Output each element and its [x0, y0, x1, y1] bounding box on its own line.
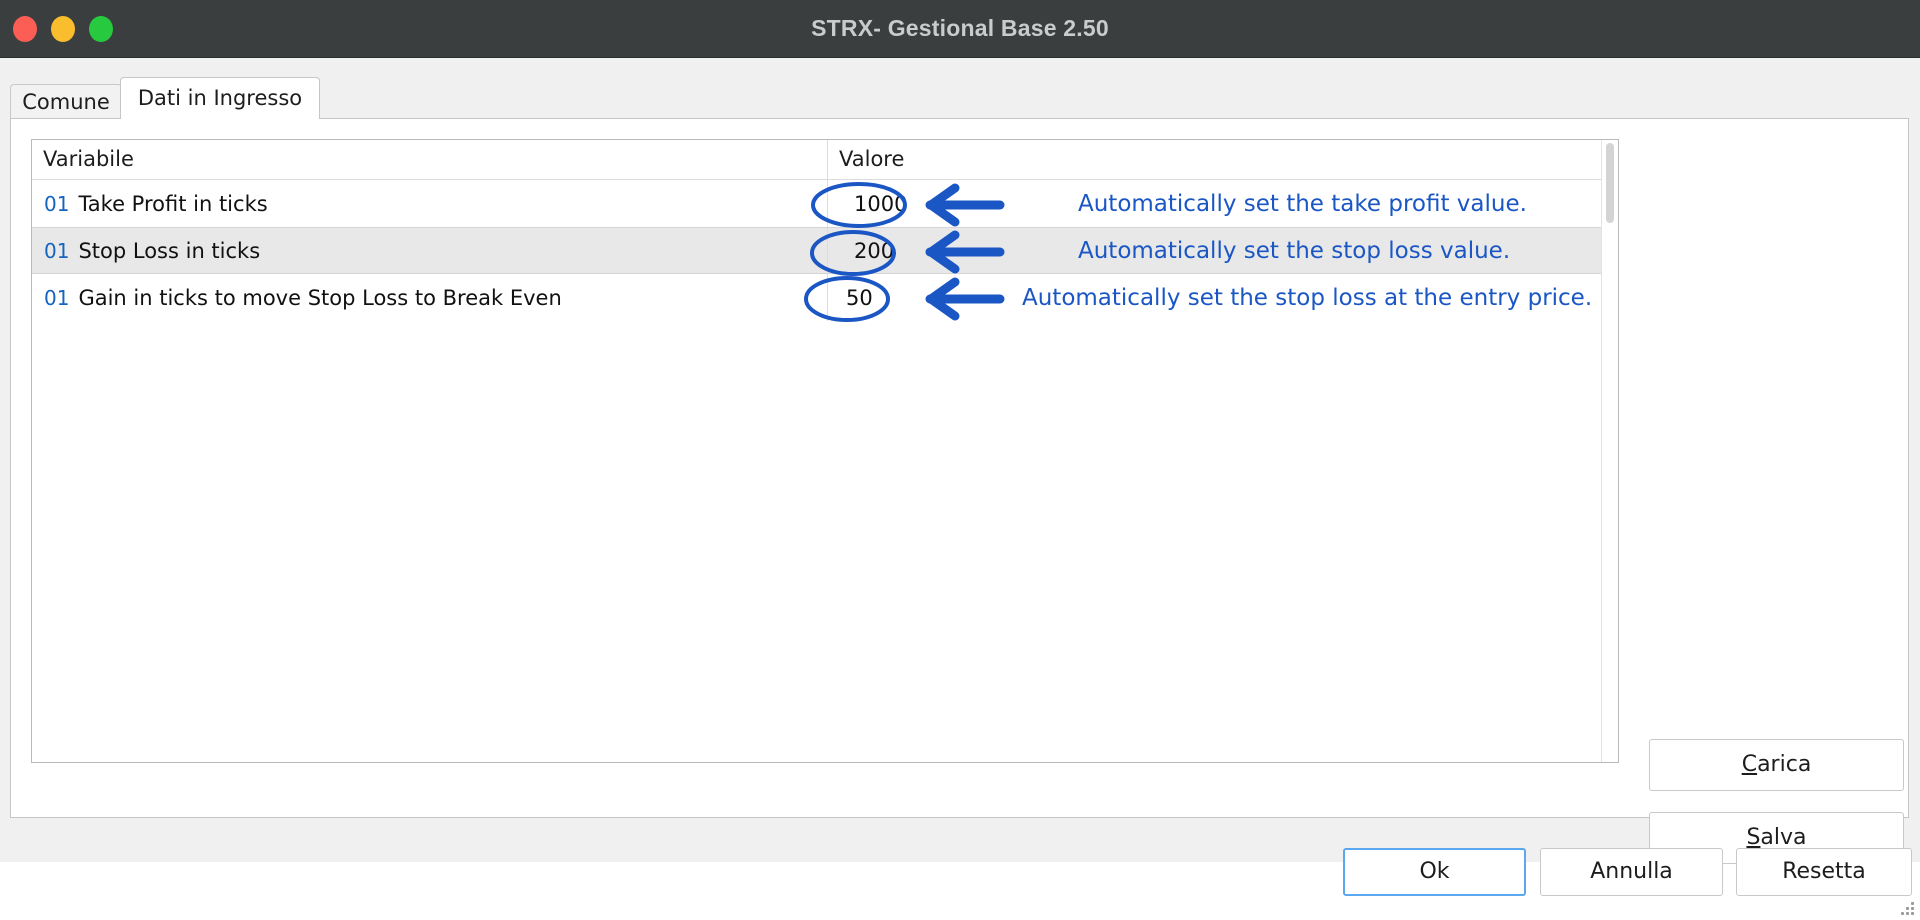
- ok-button[interactable]: Ok: [1343, 848, 1526, 896]
- scrollbar-thumb[interactable]: [1606, 143, 1614, 223]
- window-title: STRX- Gestional Base 2.50: [0, 0, 1920, 57]
- row-index-badge: 01: [44, 286, 69, 310]
- tab-comune[interactable]: Comune: [10, 84, 122, 119]
- dialog-button-bar: Ok Annulla Resetta: [0, 848, 1920, 920]
- table-vertical-scrollbar[interactable]: [1601, 140, 1618, 762]
- table-row[interactable]: 01 Stop Loss in ticks 200: [32, 227, 1618, 274]
- cell-variable: 01 Gain in ticks to move Stop Loss to Br…: [32, 274, 827, 321]
- row-index-badge: 01: [44, 192, 69, 216]
- value-take-profit[interactable]: 1000: [854, 192, 907, 216]
- carica-mnemonic: C: [1742, 752, 1757, 777]
- cell-variable: 01 Take Profit in ticks: [32, 180, 827, 227]
- table-header-row: Variabile Valore: [32, 140, 1618, 180]
- parameters-table: Variabile Valore 01 Take Profit in ticks…: [31, 139, 1619, 763]
- value-break-even[interactable]: 50: [846, 286, 873, 310]
- table-row[interactable]: 01 Take Profit in ticks 1000: [32, 180, 1618, 227]
- cell-value[interactable]: 200: [827, 228, 1618, 273]
- tab-panel: Variabile Valore 01 Take Profit in ticks…: [10, 118, 1909, 818]
- value-stop-loss[interactable]: 200: [854, 239, 894, 263]
- column-header-valore[interactable]: Valore: [827, 140, 1618, 179]
- tab-strip: Comune Dati in Ingresso: [10, 77, 1910, 119]
- cell-value[interactable]: 50: [827, 274, 1618, 321]
- cell-value[interactable]: 1000: [827, 180, 1618, 227]
- table-row[interactable]: 01 Gain in ticks to move Stop Loss to Br…: [32, 274, 1618, 321]
- tab-dati-in-ingresso[interactable]: Dati in Ingresso: [120, 77, 320, 119]
- resetta-button[interactable]: Resetta: [1736, 848, 1912, 896]
- title-bar: STRX- Gestional Base 2.50: [0, 0, 1920, 58]
- cell-variable: 01 Stop Loss in ticks: [32, 228, 827, 273]
- dialog-body: Comune Dati in Ingresso Variabile Valore…: [0, 58, 1920, 862]
- annulla-button[interactable]: Annulla: [1540, 848, 1723, 896]
- application-window: STRX- Gestional Base 2.50 Comune Dati in…: [0, 0, 1920, 862]
- variable-label: Gain in ticks to move Stop Loss to Break…: [78, 286, 561, 310]
- row-index-badge: 01: [44, 239, 69, 263]
- salva-label-rest: alva: [1760, 825, 1806, 850]
- carica-button[interactable]: Carica: [1649, 739, 1904, 791]
- salva-mnemonic: S: [1746, 825, 1760, 850]
- carica-label-rest: arica: [1757, 752, 1811, 777]
- variable-label: Stop Loss in ticks: [78, 239, 260, 263]
- column-header-variabile[interactable]: Variabile: [32, 140, 827, 179]
- variable-label: Take Profit in ticks: [78, 192, 267, 216]
- resize-grip[interactable]: [1901, 902, 1915, 916]
